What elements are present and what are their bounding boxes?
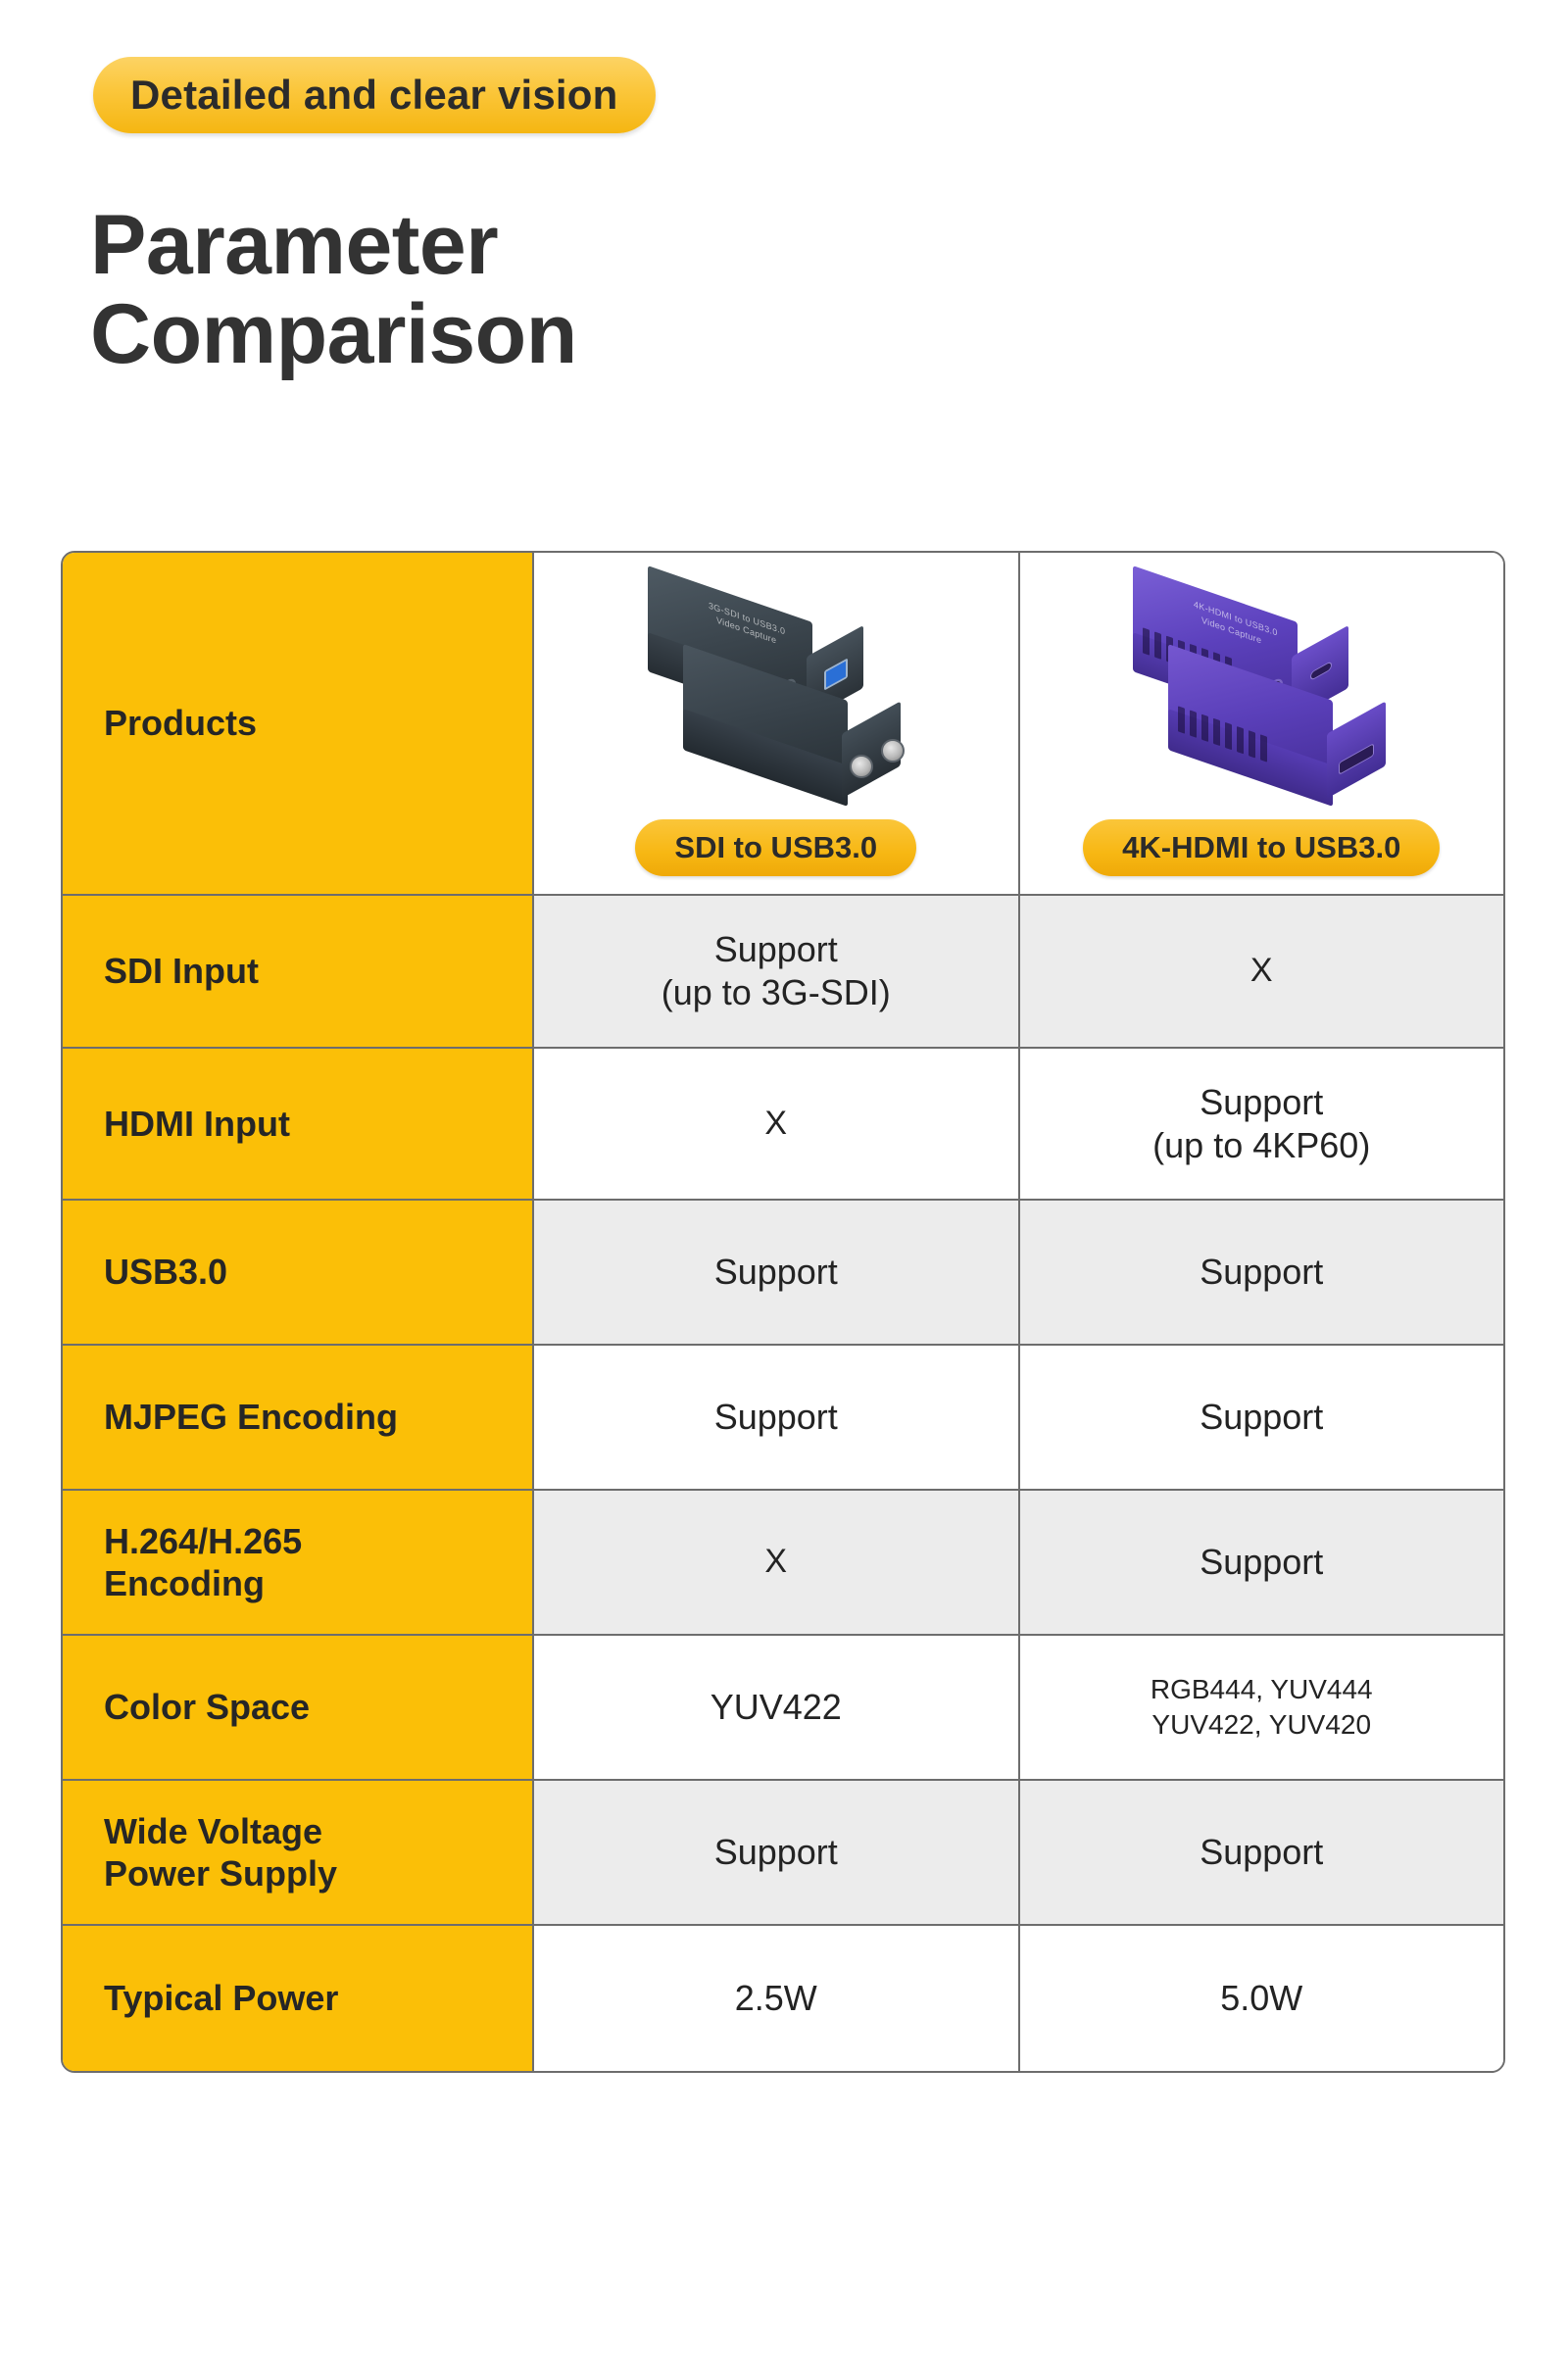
row-value: Support: [1200, 1251, 1323, 1294]
row-value: YUV422: [710, 1686, 842, 1729]
table-row: USB3.0 Support Support: [63, 1201, 1503, 1346]
row-value: 2.5W: [735, 1977, 817, 2020]
row-header-label: Products: [104, 702, 257, 744]
row-value: Support: [1200, 1396, 1323, 1439]
row-label-cell: HDMI Input: [63, 1049, 534, 1199]
row-value: Support: [714, 1396, 838, 1439]
parameter-comparison-page: Detailed and clear vision Parameter Comp…: [0, 0, 1568, 2362]
row-value-sdi: Support: [534, 1346, 1020, 1489]
row-value: RGB444, YUV444 YUV422, YUV420: [1151, 1672, 1373, 1744]
product-name-pill-sdi: SDI to USB3.0: [635, 819, 916, 876]
row-value-hdmi: X: [1020, 896, 1504, 1047]
row-label: Color Space: [104, 1686, 310, 1728]
row-value-hdmi: 5.0W: [1020, 1926, 1504, 2071]
page-title-line-2: Comparison: [90, 290, 577, 379]
table-row: SDI Input Support (up to 3G-SDI) X: [63, 896, 1503, 1049]
page-title: Parameter Comparison: [90, 201, 577, 379]
row-label-cell: H.264/H.265 Encoding: [63, 1491, 534, 1634]
row-value-hdmi: RGB444, YUV444 YUV422, YUV420: [1020, 1636, 1504, 1779]
row-label-cell: SDI Input: [63, 896, 534, 1047]
row-label-cell: Typical Power: [63, 1926, 534, 2071]
row-value: X: [1250, 951, 1273, 991]
row-value-hdmi: Support (up to 4KP60): [1020, 1049, 1504, 1199]
row-value-sdi: Support: [534, 1781, 1020, 1924]
product-column-sdi: 3G-SDI to USB3.0 Video Capture SDI to US…: [534, 553, 1020, 894]
row-value-hdmi: Support: [1020, 1781, 1504, 1924]
row-value-sdi: 2.5W: [534, 1926, 1020, 2071]
row-value: Support: [714, 1251, 838, 1294]
table-row-products: Products 3G-SDI to USB3.0 Video Capture: [63, 553, 1503, 896]
product-name-label: SDI to USB3.0: [674, 830, 877, 865]
row-value-sdi: Support (up to 3G-SDI): [534, 896, 1020, 1047]
bnc-connector-icon: [850, 755, 873, 778]
row-value: Support: [1200, 1541, 1323, 1584]
eyebrow-label: Detailed and clear vision: [130, 72, 618, 119]
row-value-sdi: X: [534, 1491, 1020, 1634]
row-value: Support (up to 3G-SDI): [661, 928, 891, 1014]
row-label: USB3.0: [104, 1251, 227, 1293]
table-row: Wide Voltage Power Supply Support Suppor…: [63, 1781, 1503, 1926]
row-value-sdi: X: [534, 1049, 1020, 1199]
row-label: Typical Power: [104, 1977, 338, 2019]
table-row: Color Space YUV422 RGB444, YUV444 YUV422…: [63, 1636, 1503, 1781]
row-value-sdi: YUV422: [534, 1636, 1020, 1779]
row-value: Support: [1200, 1831, 1323, 1874]
row-label-cell: MJPEG Encoding: [63, 1346, 534, 1489]
row-label: MJPEG Encoding: [104, 1396, 398, 1438]
row-value-sdi: Support: [534, 1201, 1020, 1344]
row-label-cell: USB3.0: [63, 1201, 534, 1344]
table-row: Typical Power 2.5W 5.0W: [63, 1926, 1503, 2071]
row-value: 5.0W: [1220, 1977, 1302, 2020]
comparison-table: Products 3G-SDI to USB3.0 Video Capture: [61, 551, 1505, 2073]
row-label: H.264/H.265 Encoding: [104, 1520, 302, 1604]
table-row: H.264/H.265 Encoding X Support: [63, 1491, 1503, 1636]
row-value: Support (up to 4KP60): [1152, 1081, 1370, 1167]
eyebrow-badge: Detailed and clear vision: [93, 57, 656, 133]
page-title-line-1: Parameter: [90, 201, 577, 290]
product-name-label: 4K-HDMI to USB3.0: [1122, 830, 1400, 865]
table-row: MJPEG Encoding Support Support: [63, 1346, 1503, 1491]
row-label: Wide Voltage Power Supply: [104, 1810, 337, 1895]
row-label: SDI Input: [104, 950, 259, 992]
product-column-hdmi: 4K-HDMI to USB3.0 Video Capture: [1020, 553, 1504, 894]
row-value-hdmi: Support: [1020, 1491, 1504, 1634]
row-value-hdmi: Support: [1020, 1201, 1504, 1344]
product-name-pill-hdmi: 4K-HDMI to USB3.0: [1083, 819, 1440, 876]
row-value-hdmi: Support: [1020, 1346, 1504, 1489]
row-label: HDMI Input: [104, 1103, 290, 1145]
row-value: Support: [714, 1831, 838, 1874]
bnc-connector-icon: [881, 739, 905, 763]
table-row: HDMI Input X Support (up to 4KP60): [63, 1049, 1503, 1201]
row-label-cell: Wide Voltage Power Supply: [63, 1781, 534, 1924]
sdi-capture-device-image: 3G-SDI to USB3.0 Video Capture: [614, 570, 938, 796]
hdmi-capture-device-image: 4K-HDMI to USB3.0 Video Capture: [1100, 570, 1423, 796]
row-value: X: [764, 1542, 787, 1582]
row-value: X: [764, 1104, 787, 1144]
row-header-products: Products: [63, 553, 534, 894]
row-label-cell: Color Space: [63, 1636, 534, 1779]
device-side-face: [1327, 701, 1386, 798]
